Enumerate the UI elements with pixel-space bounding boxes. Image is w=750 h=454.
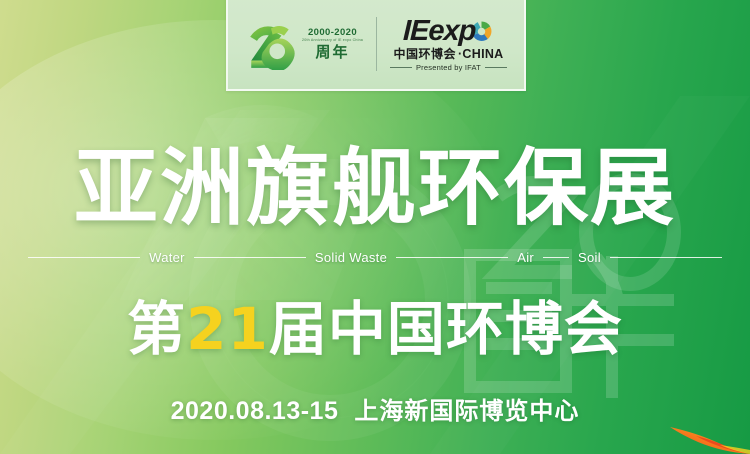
- exhibition-poster: 2000-2020 20th Anniversary of IE expo Ch…: [0, 0, 750, 454]
- rule-2: [396, 257, 508, 258]
- segment-rule: Water Solid Waste Air Soil: [28, 250, 722, 265]
- presented-rule-right: [485, 67, 507, 68]
- subtitle-prefix: 第: [127, 295, 186, 363]
- edition-number: 21: [186, 295, 269, 363]
- subtitle-suffix: 届中国环博会: [269, 295, 623, 363]
- anniversary-cn-label: 周年: [316, 45, 350, 60]
- subtitle: 第21届中国环博会: [0, 300, 750, 358]
- rule-4: [610, 257, 722, 258]
- segment-label-water: Water: [140, 250, 194, 265]
- segment-label-soil: Soil: [569, 250, 610, 265]
- headline: 亚洲旗舰环保展: [0, 146, 750, 230]
- rule-1: [194, 257, 306, 258]
- ieexpo-cn-name: 中国环博会: [393, 48, 456, 60]
- segment-label-solid-waste: Solid Waste: [306, 250, 396, 265]
- segment-label-air: Air: [508, 250, 543, 265]
- logo-divider: [376, 17, 377, 71]
- event-venue: 上海新国际博览中心: [354, 397, 579, 425]
- presented-by-label: Presented by IFAT: [416, 64, 481, 72]
- logo-panel: 2000-2020 20th Anniversary of IE expo Ch…: [226, 0, 526, 91]
- rule-3: [543, 257, 569, 258]
- 20-anniversary-ribbon-logo: [245, 18, 297, 70]
- anniversary-subtitle: 20th Anniversary of IE expo China: [302, 39, 363, 43]
- ieexpo-country: ·CHINA: [458, 48, 504, 61]
- event-date: 2020.08.13-15: [171, 397, 339, 425]
- anniversary-years: 2000-2020: [308, 28, 357, 38]
- ieexpo-wordmark: IEexp: [403, 17, 476, 46]
- rule-0: [28, 257, 140, 258]
- flame-accent-icon: [630, 414, 750, 454]
- anniversary-logo: 2000-2020 20th Anniversary of IE expo Ch…: [245, 18, 363, 70]
- ieexpo-logo: IEexp 中国环博会 ·CHINA Presented by IFAT: [390, 17, 507, 71]
- presented-rule-left: [390, 67, 412, 68]
